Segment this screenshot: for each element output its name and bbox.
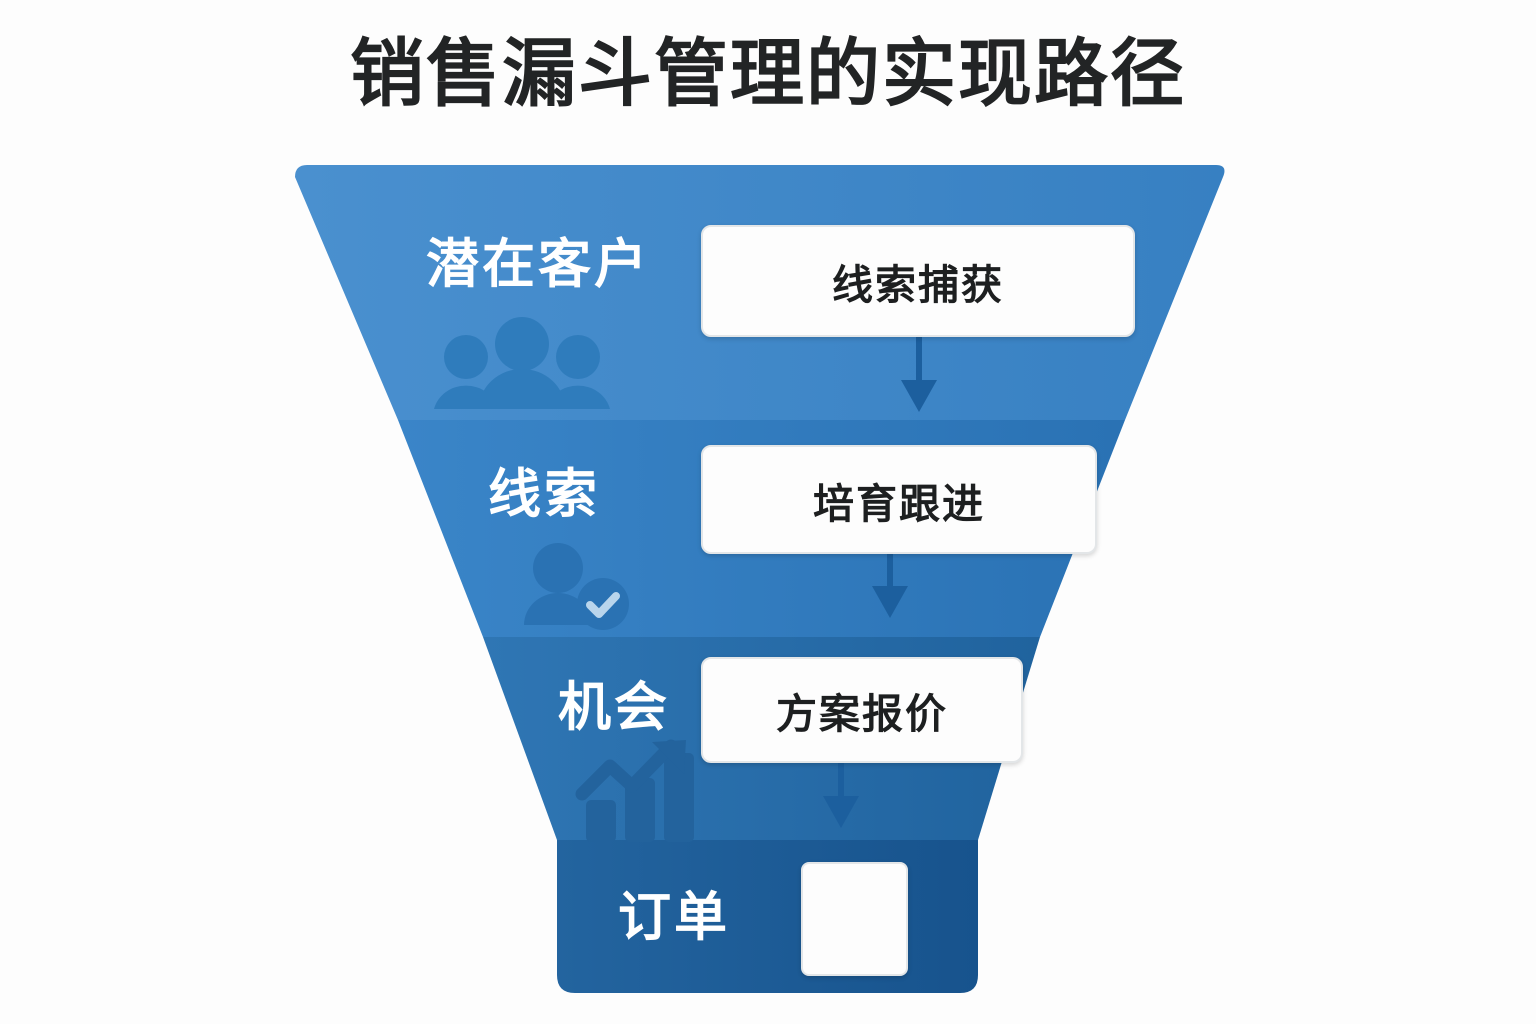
stage-label-2: 线索: [330, 452, 600, 528]
action-box-lead-capture[interactable]: 线索捕获: [701, 225, 1135, 337]
action-box-nurture-followup[interactable]: 培育跟进: [701, 445, 1097, 554]
action-box-order-amount[interactable]: [801, 862, 908, 976]
action-box-proposal-quote[interactable]: 方案报价: [701, 657, 1023, 763]
stage-label-3: 机会: [330, 665, 670, 741]
stage-label-4: 订单: [330, 875, 730, 951]
stage-label-1: 潜在客户: [330, 222, 650, 298]
funnel-diagram-canvas: 销售漏斗管理的实现路径: [0, 0, 1536, 1024]
